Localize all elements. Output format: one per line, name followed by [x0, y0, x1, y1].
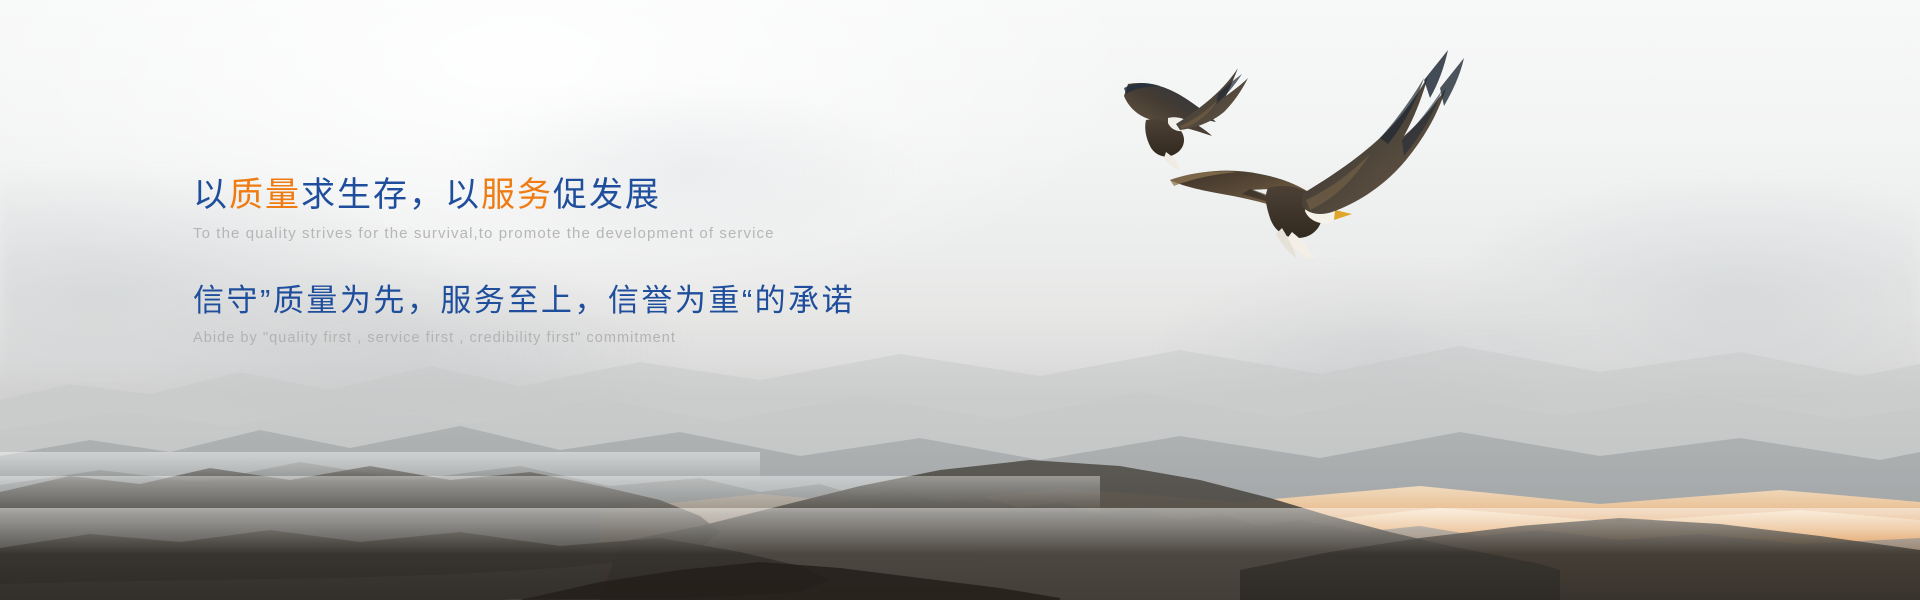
headline-highlight-service: 服务 [481, 176, 553, 214]
hero-banner: 以质量求生存，以服务促发展 To the quality strives for… [0, 0, 1920, 600]
banner-copy: 以质量求生存，以服务促发展 To the quality strives for… [193, 175, 1193, 346]
subtitle-primary: To the quality strives for the survival,… [193, 225, 1193, 242]
headline-text-1: 以 [193, 176, 229, 214]
headline-highlight-quality: 质量 [229, 176, 301, 214]
headline-text-2: 求生存，以 [301, 176, 481, 214]
headline-text-3: 促发展 [553, 176, 661, 214]
headline-primary: 以质量求生存，以服务促发展 [193, 175, 1193, 215]
flying-eagle-large [1170, 50, 1464, 258]
flying-eagle-small [1124, 68, 1248, 170]
headline-secondary: 信守”质量为先，服务至上，信誉为重“的承诺 [193, 282, 1193, 319]
subtitle-secondary: Abide by "quality first , service first … [193, 330, 1193, 346]
